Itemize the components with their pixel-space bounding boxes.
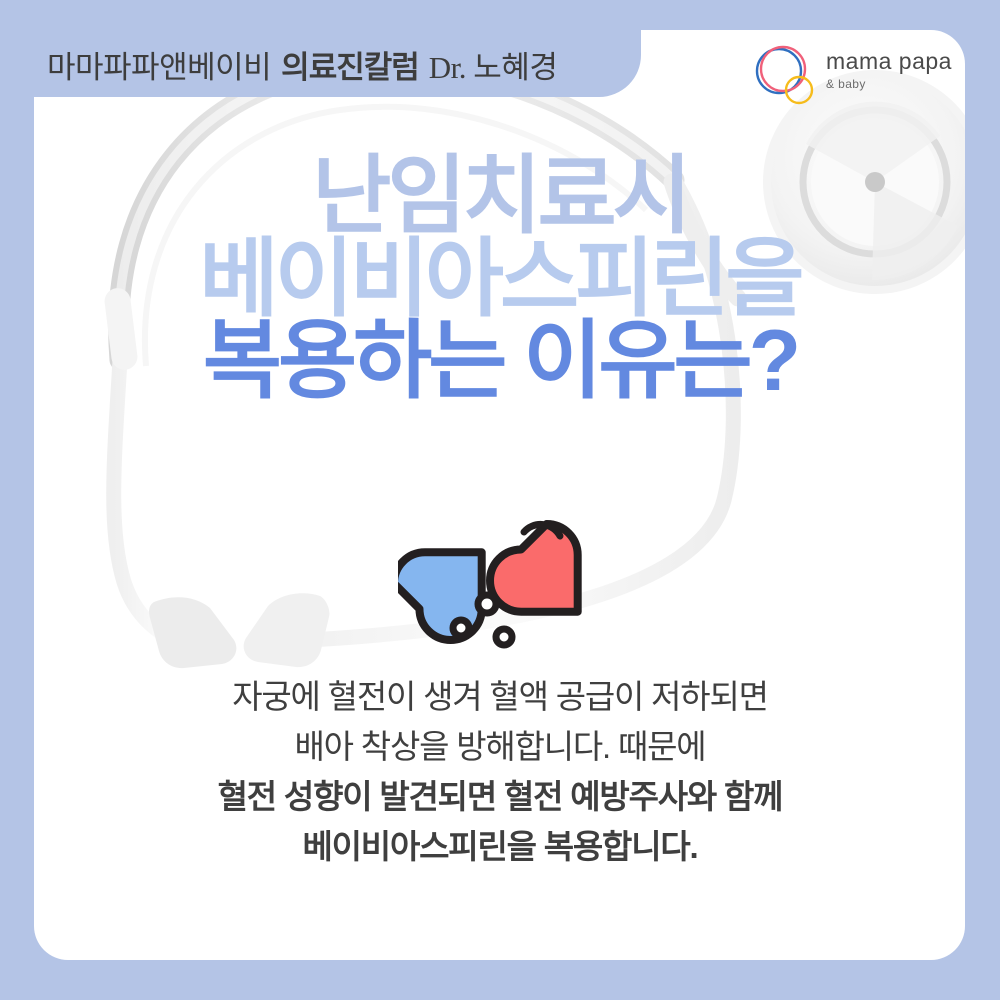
- headline-line-3: 복용하는 이유는?: [0, 320, 1000, 403]
- headline-line-2: 베이비아스피린을: [0, 238, 1000, 321]
- headline-block: 난임치료시 베이비아스피린을 복용하는 이유는?: [0, 155, 1000, 403]
- body-copy-block: 자궁에 혈전이 생겨 혈액 공급이 저하되면 배아 착상을 방해합니다. 때문에…: [0, 672, 1000, 873]
- headline-line-1: 난임치료시: [0, 155, 1000, 238]
- brand-wordmark: mama papa & baby: [826, 50, 952, 90]
- brand-name: mama papa: [826, 50, 952, 73]
- body-line-2: 배아 착상을 방해합니다. 때문에: [0, 722, 1000, 772]
- header-ribbon: 마마파파앤베이비의료진칼럼Dr. 노혜경: [0, 0, 641, 97]
- brand-logo: mama papa & baby: [752, 44, 952, 106]
- header-title-prefix: 마마파파앤베이비: [47, 50, 271, 85]
- body-line-1: 자궁에 혈전이 생겨 혈액 공급이 저하되면: [0, 672, 1000, 722]
- header-title-suffix: Dr. 노혜경: [429, 50, 558, 85]
- mama-papa-baby-rings-icon: [752, 44, 818, 106]
- brand-subtitle: & baby: [826, 78, 952, 90]
- open-capsule-pill-icon: [398, 496, 602, 656]
- infographic-card: 마마파파앤베이비의료진칼럼Dr. 노혜경 mama papa & baby 난임…: [0, 0, 1000, 1000]
- header-title: 마마파파앤베이비의료진칼럼Dr. 노혜경: [47, 42, 557, 87]
- header-title-emphasis: 의료진칼럼: [281, 50, 419, 85]
- body-line-3: 혈전 성향이 발견되면 혈전 예방주사와 함께: [0, 772, 1000, 822]
- body-line-4: 베이비아스피린을 복용합니다.: [0, 822, 1000, 872]
